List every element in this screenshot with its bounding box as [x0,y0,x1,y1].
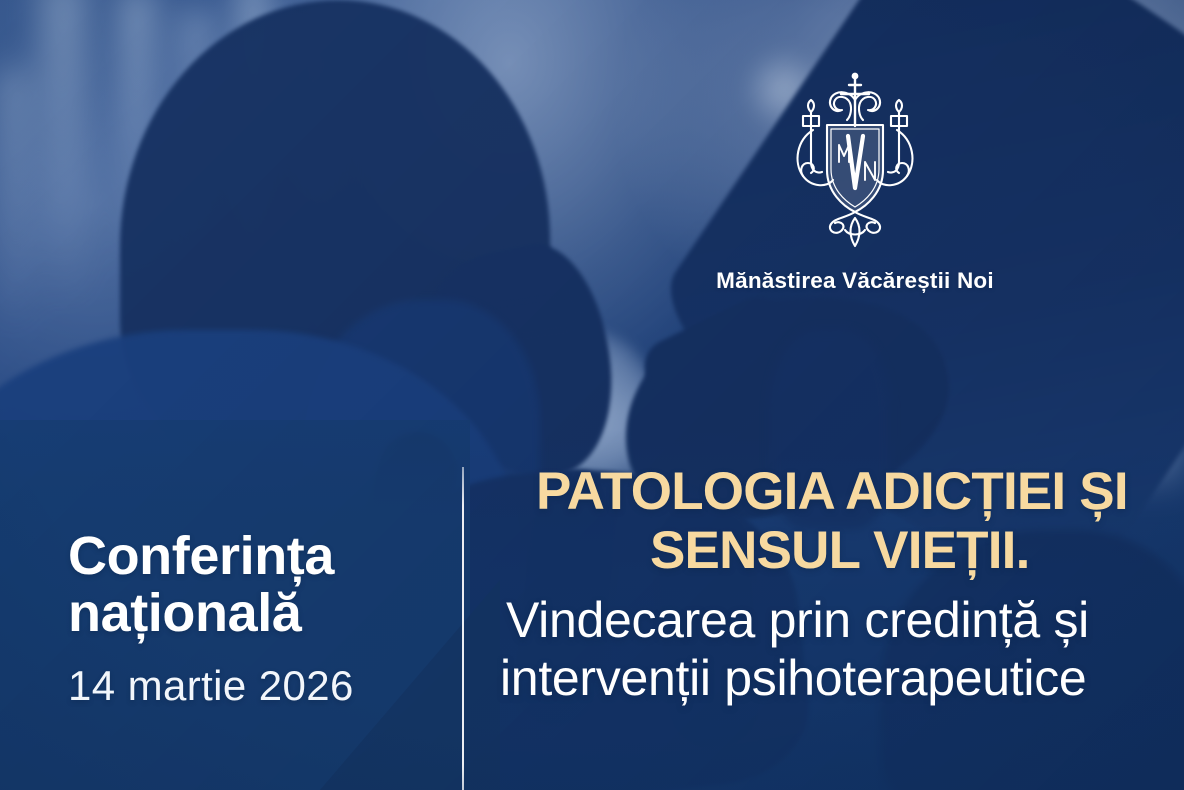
conference-label-line2: națională [68,585,448,642]
monastery-name: Mănăstirea Văcăreștii Noi [660,268,1050,294]
subtitle: Vindecarea prin credință și intervenții … [500,591,1184,707]
conference-title-block: PATOLOGIA ADICȚIEI ȘI SENSUL VIEȚII. Vin… [500,462,1184,707]
logo-block: Mănăstirea Văcăreștii Noi [660,70,1050,294]
main-title: PATOLOGIA ADICȚIEI ȘI SENSUL VIEȚII. [500,462,1184,581]
conference-info-block: Conferința națională 14 martie 2026 [68,528,448,710]
conference-poster: Mănăstirea Văcăreștii Noi Conferința naț… [0,0,1184,790]
subtitle-line2: intervenții psihoterapeutice [500,649,1184,707]
main-title-line1: PATOLOGIA ADICȚIEI ȘI [536,462,1184,521]
main-title-line2: SENSUL VIEȚII. [650,521,1184,580]
conference-label-line1: Conferința [68,528,448,585]
monastery-shield-emblem-icon [789,70,921,252]
vertical-divider [462,467,464,790]
conference-date: 14 martie 2026 [68,662,448,710]
subtitle-line1: Vindecarea prin credință și [506,591,1184,649]
